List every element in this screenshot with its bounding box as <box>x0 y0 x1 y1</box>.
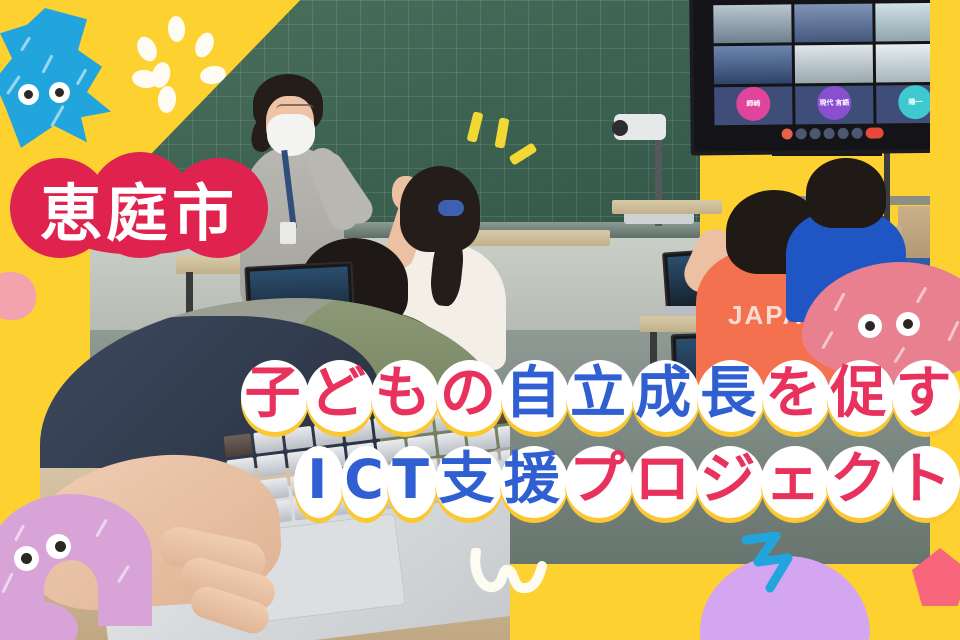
main-title: 子どもの自立成長を促す ICT支援プロジェクト <box>232 356 956 518</box>
character-eye <box>14 546 39 571</box>
city-badge-label: 恵庭市 <box>8 152 270 264</box>
title-line2-char: ジ <box>695 442 760 518</box>
title-line2-char: T <box>387 442 434 518</box>
title-line2-char: I <box>294 442 341 518</box>
title-line1-char: 自 <box>500 356 565 432</box>
character-eye <box>896 312 920 336</box>
title-line1-char: 促 <box>826 356 891 432</box>
title-line1-char: の <box>435 356 500 432</box>
title-line1-glyph: 促 <box>830 366 886 422</box>
title-line1-glyph: を <box>765 366 821 422</box>
character-eye <box>18 84 39 105</box>
video-tile-avatar: 現代 言語 <box>795 86 873 125</box>
title-line1-char: す <box>891 356 956 432</box>
title-line2-glyph: ロ <box>634 452 690 508</box>
title-line1-char: を <box>761 356 826 432</box>
title-line2-char: プ <box>564 442 629 518</box>
title-line1-glyph: も <box>375 366 431 422</box>
document-camera-lens <box>612 120 628 136</box>
title-line1-glyph: 長 <box>700 366 756 422</box>
title-line1-glyph: 立 <box>570 366 626 422</box>
video-tile <box>795 45 873 84</box>
title-line1-glyph: ど <box>310 366 366 422</box>
title-line2-char: C <box>341 442 388 518</box>
share-button[interactable] <box>810 128 821 139</box>
more-button[interactable] <box>852 127 863 138</box>
video-tile <box>714 45 792 84</box>
title-line2-char: 支 <box>434 442 499 518</box>
title-line2-glyph: C <box>344 453 384 507</box>
chat-button[interactable] <box>838 127 849 138</box>
title-line2-char: ェ <box>760 442 825 518</box>
title-line1-char: 子 <box>240 356 305 432</box>
title-line1-glyph: 自 <box>505 366 561 422</box>
participants-button[interactable] <box>824 127 835 138</box>
banner-root: JAPAN 師崎 現代 言語 <box>0 0 960 640</box>
title-line2-glyph: プ <box>569 452 625 508</box>
title-line1-glyph: 子 <box>245 366 301 422</box>
title-line2-char: ロ <box>630 442 695 518</box>
character-eye <box>858 314 882 338</box>
title-line2-glyph: 援 <box>504 452 560 508</box>
hair-tie <box>438 200 464 216</box>
teacher-face-mask <box>267 114 315 156</box>
desk <box>612 200 722 214</box>
end-call-button[interactable] <box>866 127 884 138</box>
title-line1-glyph: 成 <box>635 366 691 422</box>
title-line1-char: 長 <box>696 356 761 432</box>
title-line1-char: も <box>370 356 435 432</box>
video-call-controls[interactable] <box>763 125 903 140</box>
blue-zigzag <box>742 532 836 598</box>
title-line2-char: ク <box>825 442 890 518</box>
title-line2-char: ト <box>891 442 956 518</box>
title-line2-glyph: 支 <box>439 452 495 508</box>
title-line1-char: 立 <box>565 356 630 432</box>
teacher-id-badge <box>280 222 296 244</box>
participant-avatar: 陽一 <box>898 85 932 119</box>
participant-avatar: 現代 言語 <box>817 86 851 120</box>
title-line-1: 子どもの自立成長を促す <box>240 356 956 432</box>
video-conference-display: 師崎 現代 言語 陽一 <box>689 0 960 155</box>
video-grid: 師崎 現代 言語 陽一 <box>713 3 954 126</box>
blue-blob-character <box>0 8 144 148</box>
title-line2-glyph: ト <box>895 452 951 508</box>
title-line2-glyph: T <box>392 453 429 507</box>
white-wave-squiggle <box>470 548 570 608</box>
character-body <box>0 8 144 148</box>
camera-button[interactable] <box>796 128 807 139</box>
title-line2-glyph: ジ <box>700 452 756 508</box>
participant-avatar: 師崎 <box>736 86 770 120</box>
title-line1-char: 成 <box>631 356 696 432</box>
video-tile <box>794 4 872 43</box>
student-hair <box>806 158 886 228</box>
title-line1-glyph: す <box>895 366 951 422</box>
video-tile <box>713 4 791 43</box>
title-line2-glyph: ク <box>830 452 886 508</box>
title-line1-char: ど <box>305 356 370 432</box>
video-tile-avatar: 師崎 <box>714 86 792 125</box>
title-line2-glyph: I <box>307 453 327 507</box>
title-line2-char: 援 <box>499 442 564 518</box>
title-line1-glyph: の <box>440 366 496 422</box>
title-line-2: ICT支援プロジェクト <box>294 442 956 518</box>
mute-button[interactable] <box>782 128 793 139</box>
title-line2-glyph: ェ <box>765 452 821 508</box>
character-eye <box>49 82 70 103</box>
city-badge: 恵庭市 <box>8 152 270 264</box>
character-eye <box>46 534 71 559</box>
